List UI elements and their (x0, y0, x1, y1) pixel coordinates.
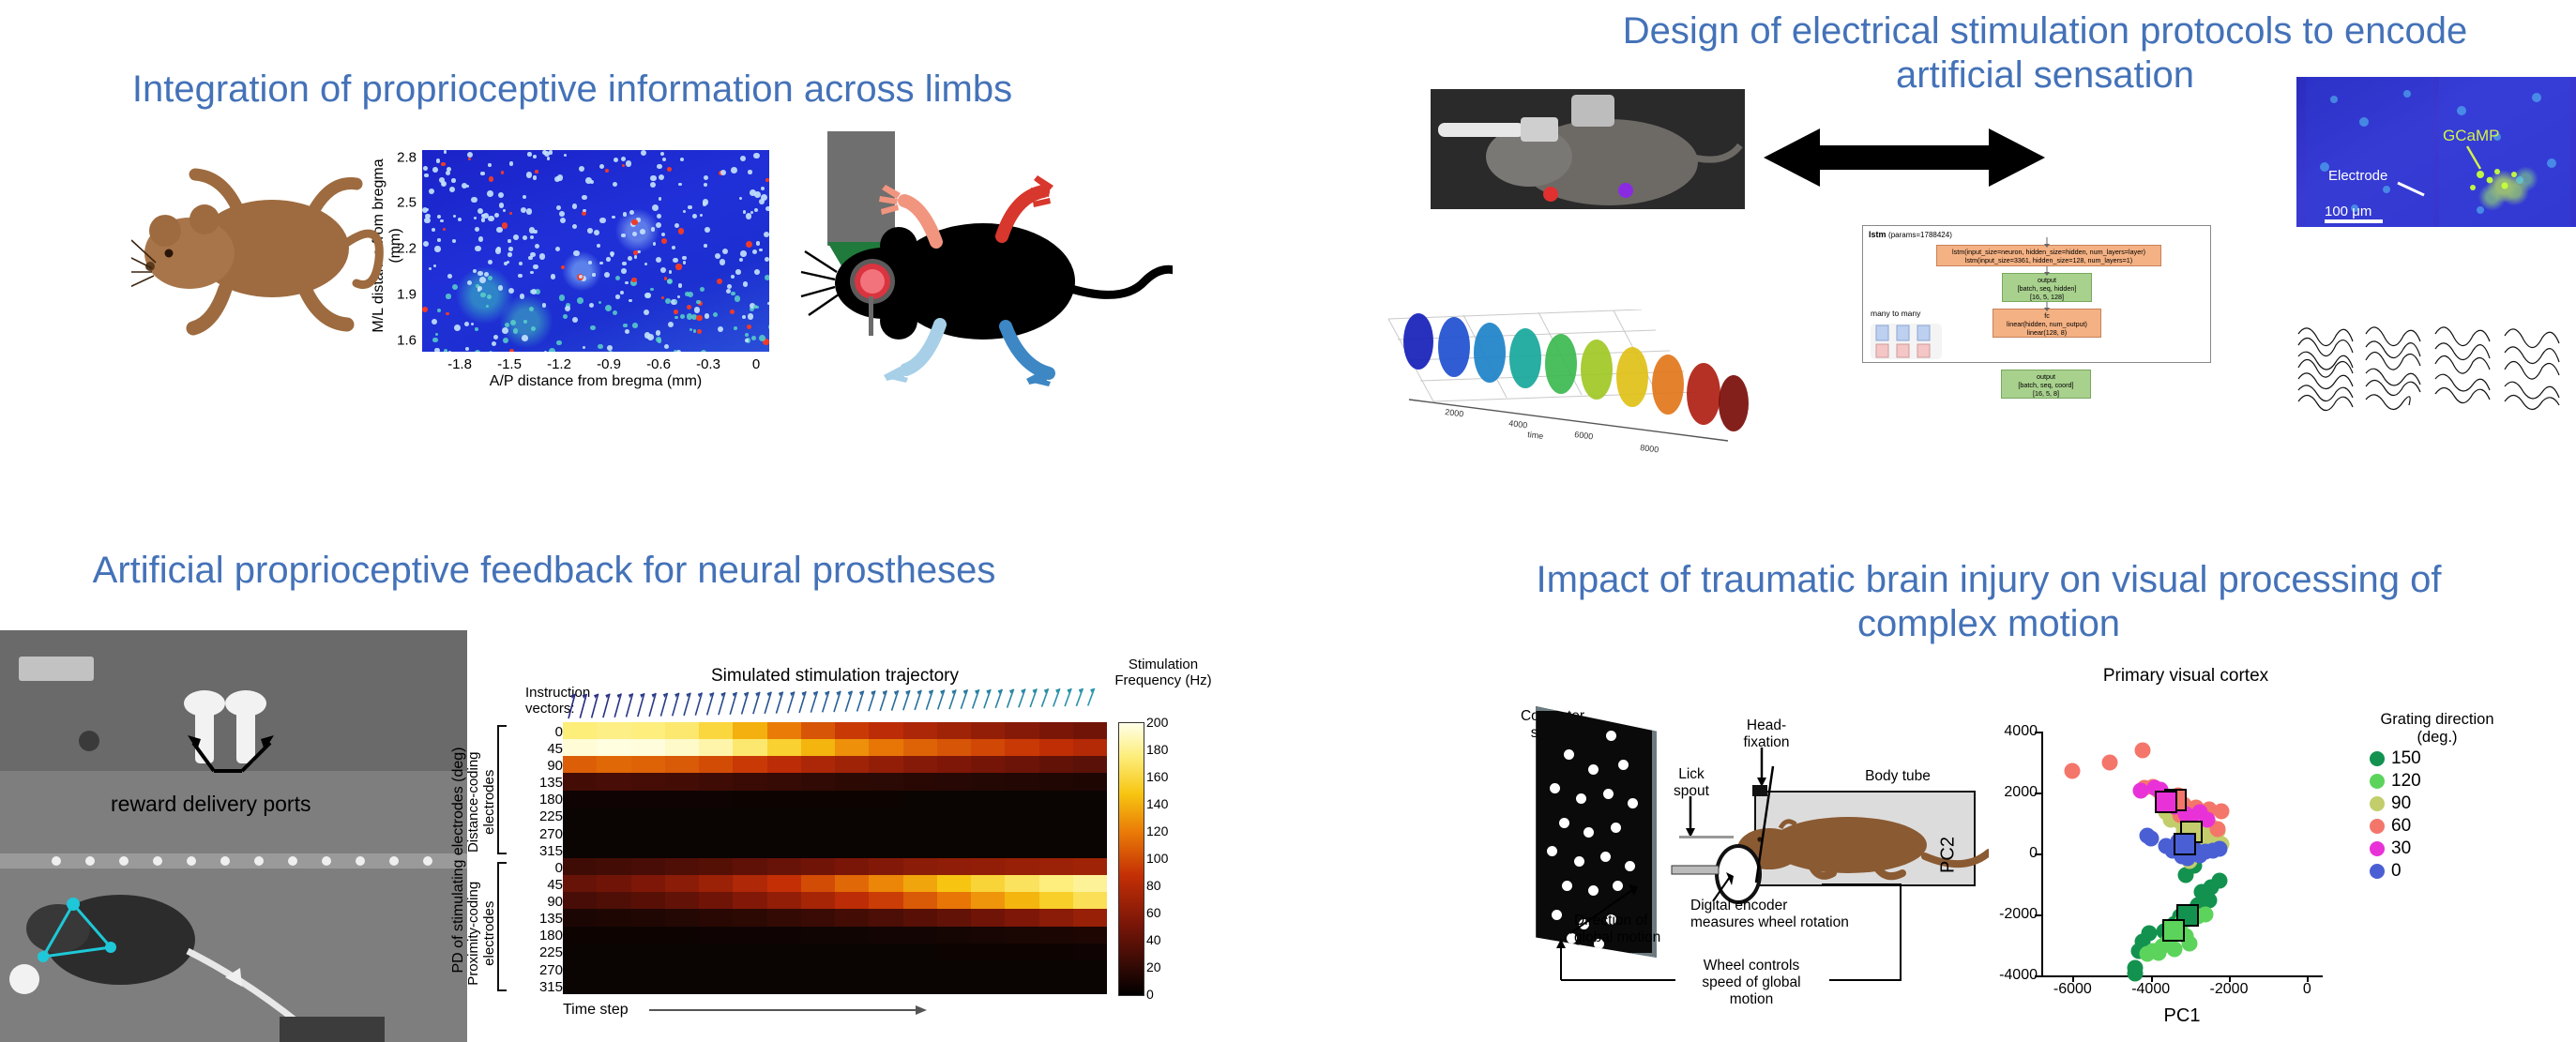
heatmap-cell (1073, 773, 1107, 790)
map-cell (605, 169, 609, 173)
map-cell (590, 325, 596, 331)
map-cell (434, 246, 440, 251)
map-cell (489, 176, 494, 182)
xtick: -1.2 (547, 356, 571, 372)
heatmap-cell (767, 824, 802, 841)
heatmap-cell (937, 791, 972, 808)
map-cell (501, 171, 504, 174)
legend-item: 30 (2343, 838, 2531, 859)
map-cell (563, 314, 568, 319)
map-cell (544, 351, 547, 352)
heatmap-cell (1005, 808, 1039, 824)
heatmap-cell (665, 756, 700, 773)
pca-y-axis-label-wrap: PC2 (1936, 807, 1959, 900)
map-cell (650, 175, 656, 181)
map-cell (551, 274, 556, 279)
map-cell (502, 222, 508, 228)
heatmap-cell (869, 875, 903, 892)
map-cell (659, 174, 664, 180)
map-cell (625, 329, 629, 334)
stimulation-frequency-colorbar (1118, 722, 1144, 996)
map-cell (590, 180, 594, 184)
pca-point (2213, 803, 2229, 819)
ytick: 1.9 (397, 287, 417, 303)
heatmap-cell (937, 773, 972, 790)
pca-centroid (2162, 919, 2185, 942)
map-cell (478, 236, 484, 242)
map-cell (644, 263, 647, 265)
heatmap-cell (1073, 944, 1107, 960)
heatmap-cell (665, 977, 700, 994)
heatmap-cell (631, 773, 666, 790)
heatmap-cell (733, 927, 767, 944)
heatmap-cell (597, 841, 631, 858)
map-cell (503, 209, 506, 212)
map-cell (429, 267, 432, 270)
panel-3-title: Artificial proprioceptive feedback for n… (38, 549, 1051, 593)
map-cell (466, 185, 470, 189)
map-cell (613, 182, 617, 187)
map-cell (607, 345, 613, 351)
heatmap-cell (733, 773, 767, 790)
heatmap-cell (665, 960, 700, 977)
map-cell (700, 287, 705, 292)
heatmap-cell (835, 892, 870, 909)
map-cell (740, 156, 746, 161)
map-cell (653, 242, 657, 246)
heatmap-cell (971, 875, 1006, 892)
motion-dot (1611, 823, 1621, 833)
map-cell (606, 257, 611, 262)
map-cell (509, 161, 514, 166)
map-cell (594, 230, 599, 235)
heatmap-cell (767, 960, 802, 977)
heatmap-cell (1073, 841, 1107, 858)
map-cell (509, 349, 514, 352)
heatmap-cell (665, 808, 700, 824)
reward-ports-label: reward delivery ports (111, 792, 311, 816)
heatmap-cell (903, 739, 938, 756)
panel-4-title: Impact of traumatic brain injury on visu… (1492, 558, 2486, 646)
heatmap-row-ticks-group2: 0 45 90 135 180 225 270 315 (501, 860, 563, 996)
map-cell (523, 195, 527, 200)
motion-dot (1559, 818, 1569, 828)
heatmap-cell (1073, 858, 1107, 875)
heatmap-cell (971, 927, 1006, 944)
map-cell (556, 205, 561, 210)
heatmap-cell (903, 960, 938, 977)
heatmap-cell (937, 841, 972, 858)
heatmap-cell (971, 892, 1006, 909)
heatmap-cell (835, 875, 870, 892)
motion-dot (1588, 764, 1599, 775)
heatmap-cell (597, 858, 631, 875)
map-cell (692, 214, 697, 219)
heatmap-cell (835, 739, 870, 756)
map-cell (471, 323, 474, 325)
map-cell (588, 261, 592, 264)
heatmap-cell (903, 909, 938, 926)
heatmap-cell (563, 841, 598, 858)
map-cell (498, 192, 504, 198)
map-cell (731, 167, 737, 174)
heatmap-cell (1039, 739, 1074, 756)
heatmap-cell (1005, 875, 1039, 892)
motion-dot (1600, 852, 1611, 862)
map-cell (683, 210, 686, 213)
heatmap-cell (733, 824, 767, 841)
map-cell (704, 244, 707, 248)
heatmap-cell (563, 739, 598, 756)
map-cell (572, 204, 578, 209)
heatmap-cell (903, 808, 938, 824)
heatmap-cell (1039, 927, 1074, 944)
heatmap-cell (937, 960, 972, 977)
map-cell (662, 158, 666, 161)
legend-swatch (2370, 819, 2385, 834)
pca-centroid (2155, 791, 2177, 813)
map-cell (680, 158, 684, 161)
map-cell (523, 320, 527, 324)
heatmap-cell (1005, 739, 1039, 756)
map-cell (742, 315, 746, 319)
electrode-label: Electrode (2328, 168, 2387, 184)
map-cell (599, 301, 601, 304)
map-cell (474, 217, 477, 219)
map-cell (626, 160, 632, 167)
brown-mouse-illustration (131, 141, 385, 356)
map-cell (435, 333, 439, 337)
map-cell (768, 324, 769, 330)
map-cell (657, 164, 662, 170)
map-cell (751, 336, 756, 340)
map-cell (502, 327, 508, 334)
map-cell (696, 315, 703, 322)
map-cell (700, 214, 703, 217)
heatmap-cell (1005, 722, 1039, 739)
map-cell (668, 322, 674, 327)
map-cell (423, 166, 428, 171)
map-cell (547, 157, 551, 160)
heatmap-cell (699, 927, 734, 944)
map-cell (579, 166, 584, 172)
map-cell (746, 241, 752, 248)
heatmap-cell (1073, 739, 1107, 756)
map-cell (577, 297, 583, 304)
motion-dot (1552, 910, 1562, 920)
map-cell (633, 250, 638, 255)
motion-dot (1606, 731, 1616, 741)
map-cell (424, 174, 429, 178)
map-cell (572, 317, 578, 323)
heatmap-cell (733, 739, 767, 756)
heatmap-cell (597, 875, 631, 892)
legend-title-line1: Grating direction (2380, 711, 2493, 728)
map-cell (443, 228, 446, 231)
heatmap-cell (903, 944, 938, 960)
heatmap-cell (597, 824, 631, 841)
heatmap-cell (665, 858, 700, 875)
legend-swatch (2370, 841, 2385, 856)
map-cell (508, 252, 511, 256)
map-cell (661, 233, 665, 236)
map-cell (605, 305, 612, 311)
motion-dot (1588, 885, 1599, 896)
heatmap-cell (937, 756, 972, 773)
map-cell (704, 175, 708, 180)
map-cell (557, 174, 563, 180)
map-cell (683, 261, 687, 264)
map-cell (720, 170, 726, 175)
map-cell (674, 310, 678, 314)
map-cell (451, 178, 456, 183)
heatmap-cell (665, 875, 700, 892)
map-cell (480, 172, 485, 176)
map-cell (422, 307, 428, 312)
map-cell (765, 275, 769, 280)
legend-label: 120 (2391, 771, 2421, 792)
map-cell (674, 300, 677, 303)
heatmap-cell (1005, 977, 1039, 994)
heatmap-cell (801, 858, 836, 875)
map-cell (432, 338, 438, 343)
heatmap-cell (1073, 808, 1107, 824)
map-cell (487, 294, 492, 299)
pca-y-tick: -2000 (1999, 906, 2038, 923)
legend-item: 150 (2343, 748, 2531, 769)
legend-item: 60 (2343, 816, 2531, 837)
heatmap-cell (971, 841, 1006, 858)
map-cell (657, 214, 661, 219)
map-cell (678, 228, 684, 234)
heatmap-cell (937, 824, 972, 841)
pca-point (2166, 942, 2182, 958)
map-cell (523, 235, 527, 240)
map-cell (667, 167, 672, 172)
map-cell (446, 312, 449, 316)
heatmap-cell (699, 756, 734, 773)
heatmap-cell (835, 909, 870, 926)
heatmap-cell (699, 909, 734, 926)
map-cell (488, 163, 491, 166)
map-cell (434, 348, 440, 352)
map-cell (499, 203, 505, 208)
heatmap-cell (1039, 841, 1074, 858)
heatmap-cell (869, 722, 903, 739)
motion-dot (1603, 789, 1614, 799)
legend-title-line2: (deg.) (2417, 729, 2457, 746)
map-cell (480, 293, 485, 297)
heatmap-cell (903, 858, 938, 875)
map-cell (615, 276, 620, 280)
map-cell (599, 164, 604, 169)
heatmap-cell (699, 960, 734, 977)
heatmap-cell (869, 841, 903, 858)
map-cell (508, 288, 515, 294)
heatmap-cell (1039, 858, 1074, 875)
gcamp-electrode-imaging: GCaMP Electrode 100 μm (2296, 77, 2576, 227)
map-cell (487, 190, 493, 197)
map-cell (765, 206, 769, 211)
map-cell (664, 344, 669, 349)
heatmap-cell (835, 773, 870, 790)
heatmap-cell (733, 722, 767, 739)
heatmap-cell (869, 791, 903, 808)
heatmap-cell (801, 944, 836, 960)
heatmap-title: Simulated stimulation trajectory (563, 666, 1107, 687)
map-cell (610, 251, 614, 256)
map-cell (634, 255, 638, 259)
heatmap-cell (903, 824, 938, 841)
heatmap-cell (801, 892, 836, 909)
heatmap-cell (767, 977, 802, 994)
heatmap-cell (665, 841, 700, 858)
map-cell (667, 279, 673, 284)
heatmap-cell (597, 909, 631, 926)
map-cell (447, 167, 451, 172)
motion-dot (1613, 881, 1623, 891)
legend-label: 60 (2391, 816, 2411, 837)
heatmap-cell (631, 892, 666, 909)
map-cell (488, 260, 492, 264)
map-cell (675, 264, 681, 269)
map-cell (477, 288, 480, 291)
motion-dot (1618, 760, 1629, 770)
map-cell (508, 239, 510, 242)
heatmap-cell (733, 841, 767, 858)
map-cell (437, 215, 442, 219)
bidirectional-arrow-icon (1764, 127, 2045, 189)
heatmap-cell (733, 960, 767, 977)
map-cell (496, 247, 501, 251)
map-cell (703, 199, 709, 205)
map-cell (644, 310, 649, 315)
legend-label: 0 (2391, 861, 2402, 882)
map-cell (510, 320, 516, 325)
xtick: 0 (752, 356, 760, 372)
map-cell (659, 197, 662, 201)
map-cell (767, 302, 769, 305)
map-cell (753, 153, 759, 159)
heatmap-cell (1039, 875, 1074, 892)
map-cell (437, 238, 440, 241)
heatmap-cell (1039, 892, 1074, 909)
heatmap-cell (937, 722, 972, 739)
map-cell (447, 274, 452, 279)
map-cell (689, 328, 692, 331)
heatmap-cell (563, 892, 598, 909)
map-cell (583, 209, 585, 212)
map-cell (673, 258, 677, 263)
heatmap-cell (971, 858, 1006, 875)
heatmap-cell (801, 875, 836, 892)
map-cell (717, 279, 722, 284)
pca-point (2135, 742, 2151, 758)
heatmap-cell (937, 977, 972, 994)
map-cell (612, 216, 614, 219)
heatmap-cell (699, 808, 734, 824)
map-cell (746, 213, 751, 219)
heatmap-cell (665, 773, 700, 790)
svg-text:8000: 8000 (1640, 443, 1659, 454)
heatmap-cell (835, 756, 870, 773)
heatmap-cell (699, 791, 734, 808)
map-cell (621, 268, 627, 274)
heatmap-cell (631, 909, 666, 926)
map-cell (599, 262, 602, 264)
map-cell (718, 326, 724, 333)
heatmap-cell (801, 773, 836, 790)
map-cell (652, 204, 659, 211)
instruction-vector-arrow (580, 694, 586, 718)
map-cell (735, 269, 741, 275)
xtick: -0.6 (646, 356, 671, 372)
heatmap-cell (1073, 722, 1107, 739)
heatmap-cell (903, 875, 938, 892)
heatmap-cell (835, 927, 870, 944)
heatmap-cell (665, 909, 700, 926)
heatmap-cell (767, 808, 802, 824)
pca-y-tick: 4000 (2004, 723, 2038, 740)
map-cell (444, 150, 447, 153)
map-cell (520, 294, 524, 298)
map-cell (731, 275, 735, 279)
map-cell (598, 344, 603, 350)
map-cell (656, 222, 661, 228)
map-cell (555, 247, 560, 251)
heatmap-cell (869, 756, 903, 773)
map-cell (440, 219, 444, 223)
head-fixation-label: Head-fixation (1724, 717, 1809, 751)
legend-item: 90 (2343, 793, 2531, 814)
heatmap-cell (835, 841, 870, 858)
heatmap-cell (733, 858, 767, 875)
map-cell (765, 257, 769, 262)
legend-swatch (2370, 864, 2385, 879)
heatmap-cell (937, 808, 972, 824)
map-cell (423, 241, 430, 248)
map-cell (529, 307, 534, 311)
map-cell (604, 272, 610, 278)
map-cell (739, 197, 742, 200)
heatmap-cell (869, 824, 903, 841)
heatmap-cell (869, 808, 903, 824)
heatmap-cell (563, 791, 598, 808)
pca-x-tick: -4000 (2131, 981, 2170, 998)
heatmap-cell (733, 875, 767, 892)
heatmap-cell (767, 739, 802, 756)
heatmap-cell (563, 909, 598, 926)
direction-of-motion-label: Direction ofglobal motion (1574, 913, 1687, 946)
scalebar-label: 100 μm (2325, 204, 2371, 219)
map-cell (475, 246, 481, 252)
heatmap-cell (767, 841, 802, 858)
map-cell (705, 313, 709, 318)
map-cell (697, 329, 703, 335)
heatmap-cell (971, 773, 1006, 790)
heatmap-cell (835, 977, 870, 994)
heatmap-cell (801, 977, 836, 994)
map-cell (527, 152, 531, 156)
heatmap-cell (937, 927, 972, 944)
map-cell (452, 284, 459, 291)
legend-swatch (2370, 774, 2385, 789)
map-cell (756, 241, 761, 246)
map-cell (492, 341, 496, 346)
svg-text:2000: 2000 (1445, 407, 1464, 418)
map-cell (761, 194, 767, 201)
map-cell (734, 326, 737, 330)
